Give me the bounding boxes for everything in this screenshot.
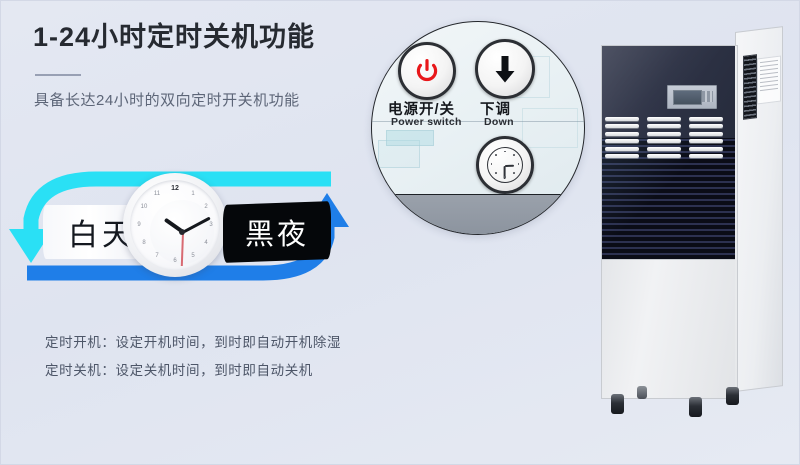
- page-title: 1-24小时定时关机功能: [33, 23, 315, 53]
- clock-number: 1: [186, 189, 200, 199]
- machine-caster-wheel: [726, 387, 739, 405]
- panel-bottom-band: [371, 194, 585, 235]
- lcd-keypad: [702, 91, 713, 102]
- power-icon: [414, 58, 440, 84]
- clock-face: 12 1 2 3 4 5 6 7 8 9 10 11: [130, 180, 220, 270]
- machine-vent-group: [647, 117, 681, 161]
- clock-number: 12: [168, 184, 182, 194]
- feature-bullet-list: 定时开机：设定开机时间，到时即自动开机除湿 定时关机：设定关机时间，到时即自动关…: [45, 329, 341, 385]
- list-item: 定时关机：设定关机时间，到时即自动关机: [45, 357, 341, 385]
- machine-lcd-display: [667, 85, 717, 109]
- clock-number: 8: [137, 238, 151, 248]
- down-label-en: Down: [484, 116, 514, 128]
- title-divider: [35, 74, 81, 76]
- clock-number: 10: [137, 202, 151, 212]
- timing-function-button[interactable]: [476, 136, 534, 194]
- list-item: 定时开机：设定开机时间，到时即自动开机除湿: [45, 329, 341, 357]
- dehumidifier-unit: [593, 29, 800, 439]
- arrow-down-icon: [492, 54, 518, 84]
- night-label: 黑夜: [223, 203, 331, 261]
- clock-center-pin: [179, 229, 185, 235]
- machine-side-vent: [743, 54, 757, 120]
- machine-vent-group: [605, 117, 639, 161]
- clock-number: 11: [150, 189, 164, 199]
- panel-decor-box: [522, 108, 578, 148]
- clock-number: 2: [199, 202, 213, 212]
- machine-lower-body: [602, 259, 735, 398]
- day-night-cycle-graphic: 白天 12 1 2 3 4 5 6 7 8 9 10 11: [1, 161, 361, 293]
- machine-caster-wheel: [689, 397, 702, 417]
- product-feature-banner: 1-24小时定时关机功能 具备长达24小时的双向定时开关机功能 白天 12 1 …: [0, 0, 800, 465]
- clock-number: 7: [150, 251, 164, 261]
- clock-number: 9: [132, 220, 146, 230]
- page-subtitle: 具备长达24小时的双向定时开关机功能: [34, 89, 300, 110]
- machine-vent-group: [689, 117, 723, 161]
- machine-caster-wheel: [637, 386, 647, 399]
- power-switch-button[interactable]: [398, 42, 456, 100]
- analog-clock: 12 1 2 3 4 5 6 7 8 9 10 11: [123, 173, 227, 277]
- down-button[interactable]: [475, 39, 535, 99]
- power-switch-label-en: Power switch: [391, 116, 462, 128]
- clock-number: 4: [199, 238, 213, 248]
- panel-decor-box: [386, 130, 434, 146]
- control-panel-closeup: 电源开/关 Power switch 下调 Down 定时/功能: [371, 21, 585, 235]
- clock-icon: [487, 147, 523, 183]
- machine-caster-wheel: [611, 394, 624, 414]
- machine-side-label: [757, 56, 781, 105]
- night-label-box: 黑夜: [223, 201, 331, 263]
- lcd-screen: [673, 90, 702, 105]
- clock-number: 5: [186, 251, 200, 261]
